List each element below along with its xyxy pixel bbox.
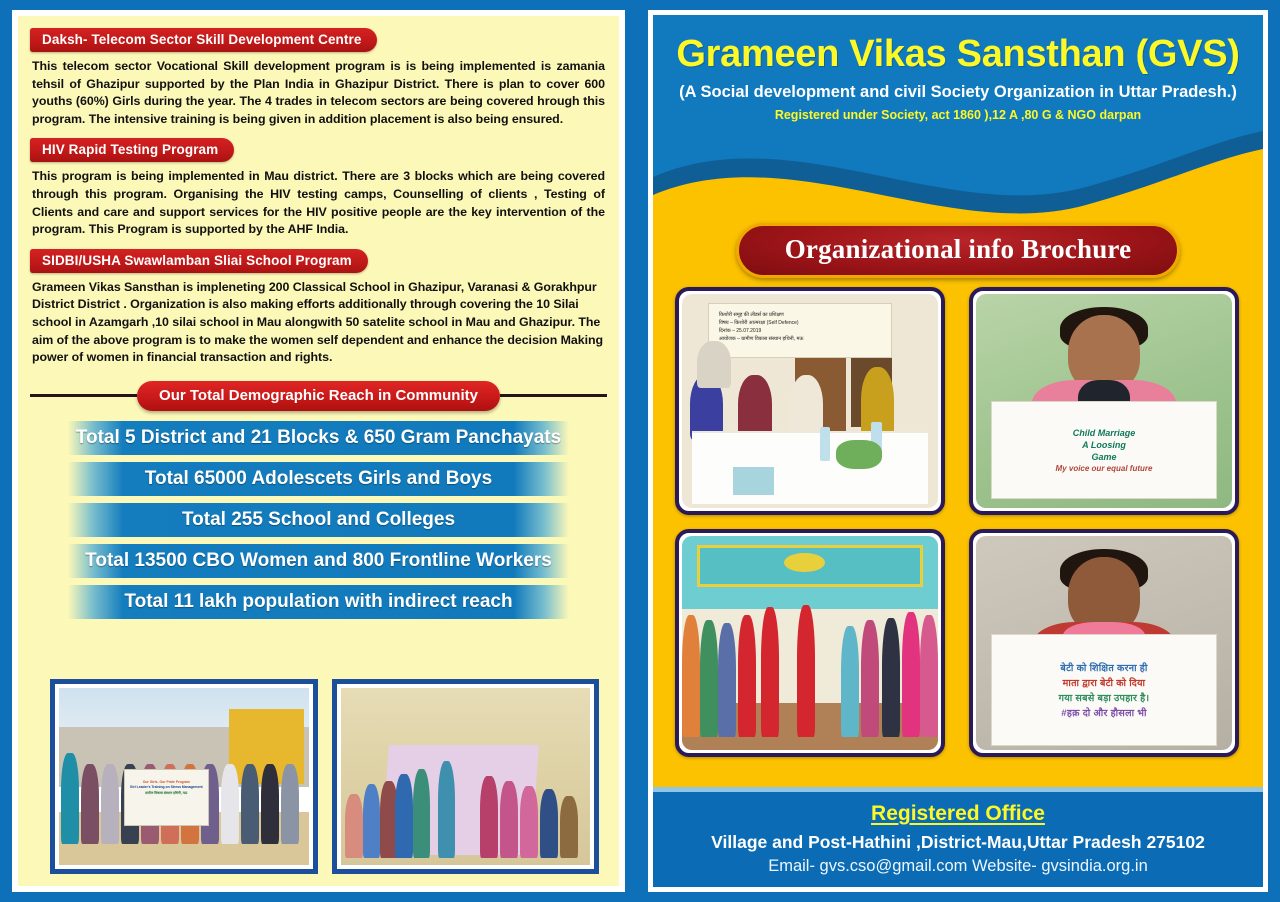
section-body-hiv: This program is being implemented in Mau…	[32, 168, 605, 238]
girls-rally-group-photo: Our Girls- Our Pride Program Girl Leader…	[50, 679, 318, 874]
demographic-item: Total 65000 Adolescets Girls and Boys	[68, 462, 569, 496]
right-panel-content: Grameen Vikas Sansthan (GVS) (A Social d…	[653, 15, 1263, 887]
poster-text: बेटी को शिक्षित करना ही माता द्वारा बेटी…	[991, 634, 1216, 745]
brochure-label: Organizational info Brochure	[736, 223, 1181, 278]
girl-education-poster-photo: बेटी को शिक्षित करना ही माता द्वारा बेटी…	[969, 529, 1239, 757]
photo-banner-text: किशोरी समूह की लीडर्स का प्रशिक्षण विषय …	[708, 303, 892, 359]
right-footer: Registered Office Village and Post-Hathi…	[653, 787, 1263, 887]
section-body-daksh: This telecom sector Vocational Skill dev…	[32, 58, 605, 128]
demographic-list: Total 5 District and 21 Blocks & 650 Gra…	[30, 421, 607, 619]
left-panel-content: Daksh- Telecom Sector Skill Development …	[18, 16, 619, 886]
registered-office-address: Village and Post-Hathini ,District-Mau,U…	[653, 832, 1263, 853]
section-daksh: Daksh- Telecom Sector Skill Development …	[30, 28, 607, 138]
demographic-heading-row: Our Total Demographic Reach in Community	[30, 381, 607, 411]
section-sidbi: SIDBI/USHA Swawlamban Sliai School Progr…	[30, 249, 607, 377]
brochure-banner: Organizational info Brochure	[653, 223, 1263, 278]
organization-subtitle: (A Social development and civil Society …	[653, 83, 1263, 102]
section-heading-sidbi: SIDBI/USHA Swawlamban Sliai School Progr…	[30, 249, 368, 273]
demographic-heading: Our Total Demographic Reach in Community	[137, 381, 500, 411]
organization-registration: Registered under Society, act 1860 ),12 …	[653, 108, 1263, 122]
child-marriage-poster-photo: Child Marriage A Loosing Game My voice o…	[969, 287, 1239, 515]
right-header: Grameen Vikas Sansthan (GVS) (A Social d…	[653, 15, 1263, 230]
section-heading-daksh: Daksh- Telecom Sector Skill Development …	[30, 28, 377, 52]
left-panel: Daksh- Telecom Sector Skill Development …	[12, 10, 625, 892]
registered-office-title: Registered Office	[653, 802, 1263, 826]
community-hall-activity-photo	[675, 529, 945, 757]
wave-divider-graphic	[653, 125, 1263, 230]
brochure-page: Daksh- Telecom Sector Skill Development …	[0, 0, 1280, 902]
children-group-session-photo	[332, 679, 600, 874]
seminar-dais-photo: किशोरी समूह की लीडर्स का प्रशिक्षण विषय …	[675, 287, 945, 515]
demographic-item: Total 5 District and 21 Blocks & 650 Gra…	[68, 421, 569, 455]
section-body-sidbi: Grameen Vikas Sansthan is impleneting 20…	[32, 279, 605, 367]
photo-banner-text: Our Girls- Our Pride Program Girl Leader…	[124, 769, 209, 826]
right-panel: Grameen Vikas Sansthan (GVS) (A Social d…	[648, 10, 1268, 892]
demographic-item: Total 13500 CBO Women and 800 Frontline …	[68, 544, 569, 578]
section-heading-hiv: HIV Rapid Testing Program	[30, 138, 234, 162]
organization-title: Grameen Vikas Sansthan (GVS)	[653, 15, 1263, 76]
rule-right	[500, 394, 607, 397]
poster-text: Child Marriage A Loosing Game My voice o…	[991, 401, 1216, 499]
right-photo-grid: किशोरी समूह की लीडर्स का प्रशिक्षण विषय …	[675, 287, 1247, 757]
demographic-item: Total 11 lakh population with indirect r…	[68, 585, 569, 619]
section-hiv: HIV Rapid Testing Program This program i…	[30, 138, 607, 248]
rule-left	[30, 394, 137, 397]
registered-office-contact: Email- gvs.cso@gmail.com Website- gvsind…	[653, 857, 1263, 876]
demographic-item: Total 255 School and Colleges	[68, 503, 569, 537]
left-photo-row: Our Girls- Our Pride Program Girl Leader…	[30, 673, 607, 876]
